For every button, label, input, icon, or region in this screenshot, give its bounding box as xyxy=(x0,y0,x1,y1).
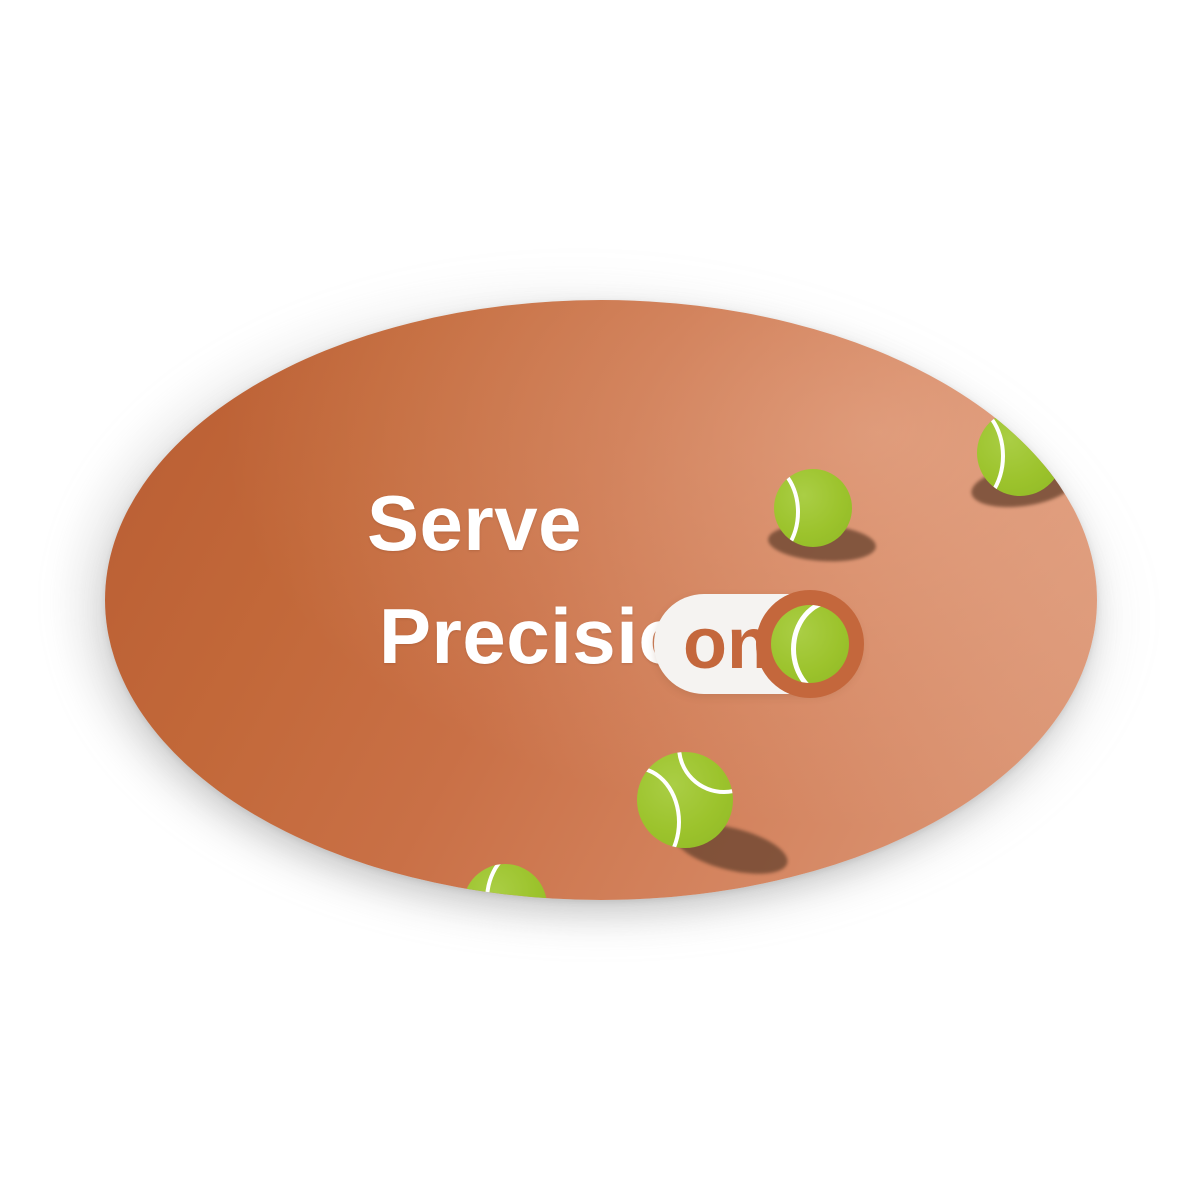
tennis-ball-bottom-edge xyxy=(453,858,603,900)
headline-line-1: Serve xyxy=(367,483,582,563)
ball-seam-icon xyxy=(774,469,800,547)
ball-seam-icon xyxy=(485,864,547,900)
tennis-ball-lower-middle xyxy=(625,750,805,900)
ball-body-icon xyxy=(463,864,547,900)
tennis-ball-top-right xyxy=(969,408,1097,538)
knob-ball-seam-icon xyxy=(791,605,849,683)
sticker-canvas: Serve Precision on xyxy=(0,0,1200,1200)
toggle-knob-tennis-ball-icon[interactable] xyxy=(771,605,849,683)
ball-seam-icon xyxy=(637,766,681,848)
ball-seam-secondary-icon xyxy=(677,752,733,794)
tennis-ball-upper-middle xyxy=(760,465,900,585)
ball-body-icon xyxy=(774,469,852,547)
ball-body-icon xyxy=(977,410,1063,496)
ball-body-icon xyxy=(637,752,733,848)
ball-seam-icon xyxy=(977,410,1005,496)
serve-precision-toggle[interactable]: on xyxy=(654,594,862,694)
